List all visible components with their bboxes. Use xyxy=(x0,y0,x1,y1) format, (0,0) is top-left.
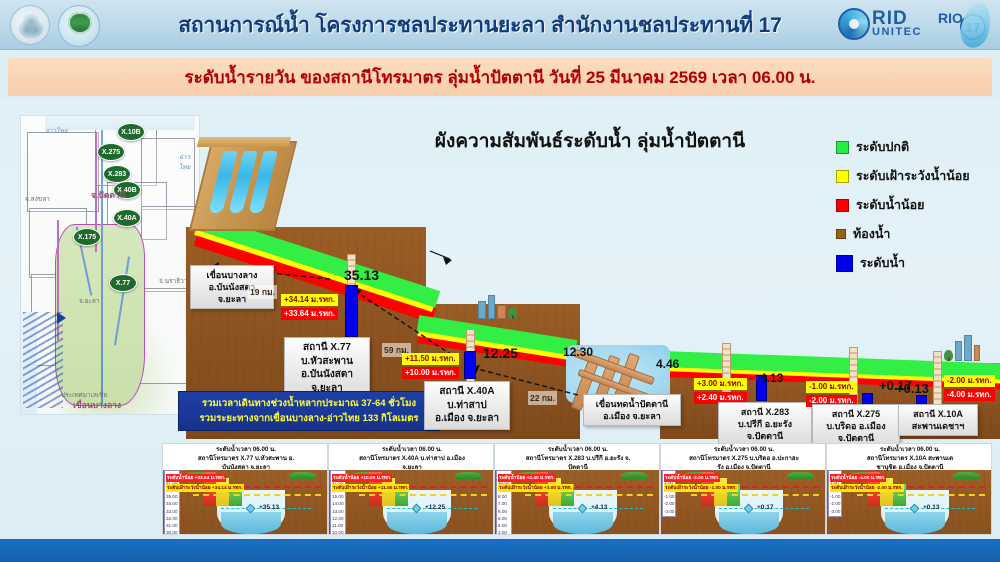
xsec-water xyxy=(719,512,779,534)
cross-section-panels: ระดับน้ำเวลา 06.00 น.สถานีโทรมาตร X.77 บ… xyxy=(0,443,1000,538)
x10a-value: +0.13 xyxy=(896,381,929,396)
callout-line: บ.ปรีกี อ.ยะรัง จ.ปัตตานี xyxy=(724,418,806,442)
x40a-water-level-bar xyxy=(464,351,476,379)
xsec-vegetation xyxy=(455,472,481,479)
xsec-water xyxy=(221,512,281,534)
app-header: สถานการณ์น้ำ โครงการชลประทานยะลา สำนักงา… xyxy=(0,0,1000,50)
callout-line: เขื่อนทดน้ำปัตตานี xyxy=(589,398,675,410)
x77-value: 35.13 xyxy=(344,267,379,283)
callout-line: สถานี X.275 xyxy=(818,408,894,420)
callout-line: สถานี X.40A xyxy=(430,385,504,399)
xsec-x77[interactable]: ระดับน้ำเวลา 06.00 น.สถานีโทรมาตร X.77 บ… xyxy=(162,443,328,535)
xsec-tag-watch: ระดับเฝ้าระวังน้ำน้อย +11.50 ม.รทก. xyxy=(332,484,409,492)
rid-emblem-icon xyxy=(58,5,100,47)
rid-unitec-logo: RID UNITEC xyxy=(838,7,938,43)
xsec-level-bar xyxy=(216,478,229,506)
subtitle-bar: ระดับน้ำรายวัน ของสถานีโทรมาตร ลุ่มน้ำปั… xyxy=(8,58,992,96)
xsec-tag-low-water: ระดับน้ำน้อย +10.00 ม.รทก. xyxy=(332,474,392,482)
xsec-vegetation xyxy=(621,472,647,479)
page-title: สถานการณ์น้ำ โครงการชลประทานยะลา สำนักงา… xyxy=(130,5,830,45)
xsec-vegetation xyxy=(787,472,813,479)
x40a-warning-red: +10.00 ม.รทก. xyxy=(402,367,459,379)
subtitle-text: ระดับน้ำรายวัน ของสถานีโทรมาตร ลุ่มน้ำปั… xyxy=(184,64,815,91)
xsec-water xyxy=(387,512,447,534)
xsec-level-bar xyxy=(382,478,395,506)
reach-value: 4.46 xyxy=(656,357,679,371)
callout-station-x40a[interactable]: สถานี X.40A บ.ท่าสาป อ.เมือง จ.ยะลา xyxy=(424,381,510,430)
xsec-tag-watch: ระดับเฝ้าระวังน้ำน้อย +34.14 ม.รทก. xyxy=(166,484,244,492)
x40a-warning-yellow: +11.50 ม.รทก. xyxy=(402,353,459,365)
summary-line-time: รวมเวลาเดินทางช่วงน้ำหลากประมาณ 37-64 ชั… xyxy=(202,396,416,411)
distance-label: 22 กม. xyxy=(528,391,557,405)
distance-label: 19 กม. xyxy=(248,285,277,299)
xsec-title: ระดับน้ำเวลา 06.00 น.สถานีโทรมาตร X.275 … xyxy=(667,446,821,473)
xsec-tag-low-water: ระดับน้ำน้อย -2.00 ม.รทก. xyxy=(664,474,720,482)
xsec-water-level-value: +0.13 xyxy=(923,504,939,511)
xsec-x40a[interactable]: ระดับน้ำเวลา 06.00 น.สถานีโทรมาตร X.40A … xyxy=(328,443,494,535)
callout-line: อ.บันนังสตา xyxy=(290,368,364,382)
callout-pattani-weir[interactable]: เขื่อนทดน้ำปัตตานี อ.เมือง จ.ยะลา xyxy=(583,394,681,426)
xsec-vegetation xyxy=(953,472,979,479)
xsec-water-level-value: +35.13 xyxy=(259,504,279,511)
xsec-level-bar xyxy=(548,478,561,506)
callout-station-x275[interactable]: สถานี X.275 บ.บริดอ อ.เมือง จ.ปัตตานี xyxy=(812,404,900,448)
xsec-tag-watch: ระดับเฝ้าระวังน้ำน้อย +3.00 ม.รทก. xyxy=(498,484,573,492)
rio17-logo: RIO 17 xyxy=(938,4,992,46)
xsec-tag-watch: ระดับเฝ้าระวังน้ำน้อย -1.00 ม.รทก. xyxy=(664,484,738,492)
callout-line: สถานี X.10A xyxy=(904,408,972,420)
xsec-watch-line xyxy=(359,494,487,496)
rid-swirl-icon xyxy=(838,8,870,40)
callout-line: บ.หัวสะพาน xyxy=(290,355,364,369)
unitec-logo-text: UNITEC xyxy=(872,27,922,38)
xsec-level-bar xyxy=(880,478,893,506)
xsec-tag-watch: ระดับเฝ้าระวังน้ำน้อย -2.00 ม.รทก. xyxy=(830,484,904,492)
x77-warning-yellow: +34.14 ม.รทก. xyxy=(281,294,338,306)
callout-line: สถานี X.283 xyxy=(724,406,806,418)
xsec-water-level-value: +4.13 xyxy=(591,504,607,511)
xsec-watch-line xyxy=(525,494,653,496)
xsec-x10a[interactable]: ระดับน้ำเวลา 06.00 น.สถานีโทรมาตร X.10A … xyxy=(826,443,992,535)
x77-water-level-bar xyxy=(345,285,358,337)
xsec-water-level-value: +0.17 xyxy=(757,504,773,511)
xsec-title: ระดับน้ำเวลา 06.00 น.สถานีโทรมาตร X.10A … xyxy=(833,446,987,473)
diagram-stage: X.10BX.275X.283X.40BX.40AX.175X.77 อ่าวไ… xyxy=(0,99,1000,539)
xsec-x275[interactable]: ระดับน้ำเวลา 06.00 น.สถานีโทรมาตร X.275 … xyxy=(660,443,826,535)
xsec-tag-low-water: ระดับน้ำน้อย +2.40 ม.รทก. xyxy=(498,474,556,482)
callout-station-x77[interactable]: สถานี X.77 บ.หัวสะพาน อ.บันนังสตา จ.ยะลา xyxy=(284,337,370,399)
x10a-warning-red: -4.00 ม.รทก. xyxy=(944,389,995,401)
xsec-watch-line xyxy=(691,494,819,496)
xsec-vegetation xyxy=(289,472,315,479)
xsec-tag-low-water: ระดับน้ำน้อย +33.64 ม.รทก. xyxy=(166,474,226,482)
callout-line: เขื่อนบางลาง xyxy=(196,269,268,281)
callout-line: อ.เมือง จ.ยะลา xyxy=(430,412,504,426)
callout-station-x283[interactable]: สถานี X.283 บ.ปรีกี อ.ยะรัง จ.ปัตตานี xyxy=(718,402,812,446)
callout-line: อ.เมือง จ.ยะลา xyxy=(589,410,675,422)
xsec-title: ระดับน้ำเวลา 06.00 น.สถานีโทรมาตร X.77 บ… xyxy=(169,446,323,473)
x77-warning-red: +33.64 ม.รทก. xyxy=(281,308,338,320)
reach-value: 12.30 xyxy=(563,345,593,359)
summary-banner: รวมเวลาเดินทางช่วงน้ำหลากประมาณ 37-64 ชั… xyxy=(178,391,440,431)
callout-line: สะพานเดชาฯ xyxy=(904,420,972,432)
xsec-level-bar xyxy=(714,478,727,506)
city-icon-yala xyxy=(478,295,517,319)
xsec-title: ระดับน้ำเวลา 06.00 น.สถานีโทรมาตร X.40A … xyxy=(335,446,489,473)
xsec-water xyxy=(885,512,945,534)
x283-warning-yellow: +3.00 ม.รทก. xyxy=(694,378,747,390)
x275-warning-yellow: -1.00 ม.รทก. xyxy=(806,381,857,393)
x10a-warning-yellow: -2.00 ม.รทก. xyxy=(944,375,995,387)
callout-line: บ.บริดอ อ.เมือง จ.ปัตตานี xyxy=(818,420,894,444)
callout-line: สถานี X.77 xyxy=(290,341,364,355)
water-drop-icon xyxy=(957,0,995,51)
xsec-watch-line xyxy=(193,494,321,496)
x283-value: 4.13 xyxy=(760,371,783,385)
xsec-title: ระดับน้ำเวลา 06.00 น.สถานีโทรมาตร X.283 … xyxy=(501,446,655,473)
xsec-water xyxy=(553,512,613,534)
summary-line-distance: รวมระยะทางจากเขื่อนบางลาง-อ่าวไทย 133 กิ… xyxy=(200,411,419,426)
royal-emblem-icon xyxy=(10,5,50,45)
x40a-value: 12.25 xyxy=(483,345,518,361)
bang-lang-dam-graphic xyxy=(200,141,286,231)
xsec-watch-line xyxy=(857,494,985,496)
city-icon-pattani xyxy=(944,335,980,361)
callout-station-x10a[interactable]: สถานี X.10A สะพานเดชาฯ xyxy=(898,404,978,436)
callout-line: บ.ท่าสาป xyxy=(430,399,504,413)
bottom-bar xyxy=(0,539,1000,562)
dam-crest xyxy=(197,137,291,147)
xsec-water-level-value: +12.25 xyxy=(425,504,445,511)
xsec-tag-low-water: ระดับน้ำน้อย -4.00 ม.รทก. xyxy=(830,474,886,482)
xsec-x283[interactable]: ระดับน้ำเวลา 06.00 น.สถานีโทรมาตร X.283 … xyxy=(494,443,660,535)
longitudinal-profile: เขื่อนบางลาง อ.บันนังสตา จ.ยะลา เขื่อนทด… xyxy=(0,99,1000,439)
rio-logo-text: RIO xyxy=(938,10,963,26)
